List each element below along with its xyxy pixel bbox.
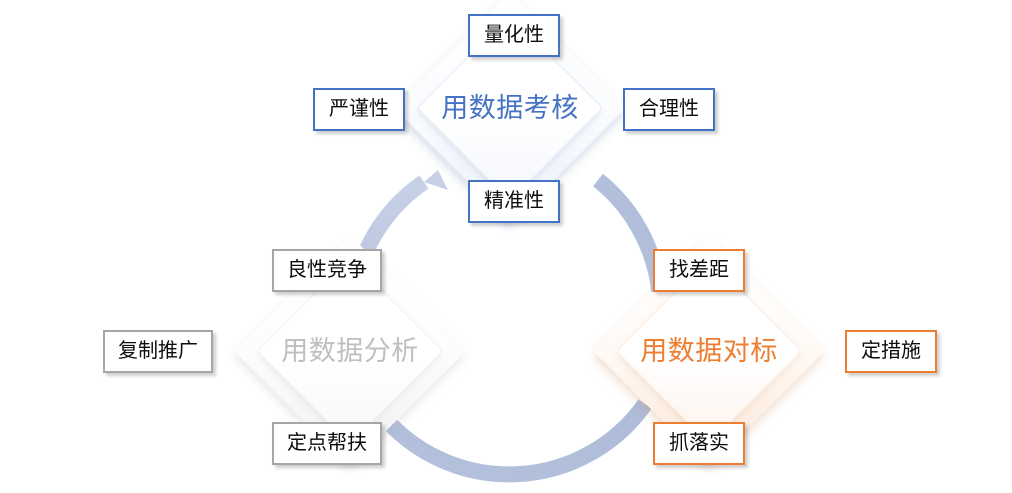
tag-quantitative[interactable]: 量化性: [468, 14, 560, 57]
tag-healthy-competition[interactable]: 良性竞争: [272, 249, 382, 292]
tag-find-gap[interactable]: 找差距: [653, 249, 745, 292]
tag-set-measures[interactable]: 定措施: [845, 330, 937, 373]
tag-reasonable[interactable]: 合理性: [623, 88, 715, 131]
diagram-canvas: 用数据考核 用数据分析 用数据对标 量化性 严谨性 合理性 精准性 找差距 定措…: [0, 0, 1012, 493]
node-label-assessment: 用数据考核: [414, 88, 606, 128]
node-label-benchmark: 用数据对标: [613, 331, 805, 371]
tag-implement[interactable]: 抓落实: [653, 422, 745, 465]
tag-rigorous[interactable]: 严谨性: [313, 88, 405, 131]
tag-precise[interactable]: 精准性: [468, 180, 560, 223]
tag-targeted-support[interactable]: 定点帮扶: [272, 422, 382, 465]
node-label-analysis: 用数据分析: [254, 331, 446, 371]
tag-replicate-promote[interactable]: 复制推广: [103, 330, 213, 373]
